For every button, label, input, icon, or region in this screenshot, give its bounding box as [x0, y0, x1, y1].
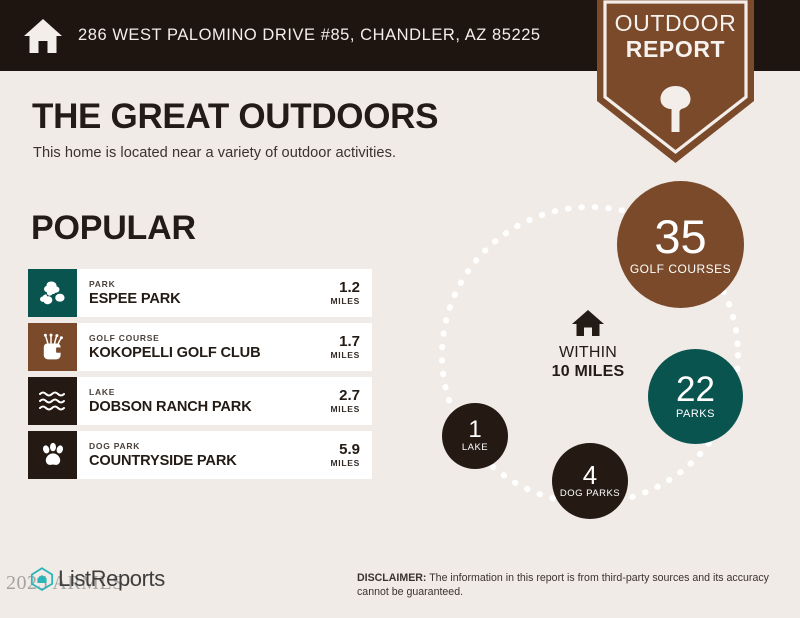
poi-icon-tile	[28, 377, 77, 425]
listreports-house-icon	[29, 566, 55, 592]
disclaimer: DISCLAIMER: The information in this repo…	[357, 571, 777, 599]
poi-text: GOLF COURSE KOKOPELLI GOLF CLUB	[77, 323, 314, 371]
list-item[interactable]: LAKE DOBSON RANCH PARK 2.7 MILES	[28, 377, 372, 425]
stat-value: 22	[676, 372, 715, 407]
poi-distance-unit: MILES	[331, 404, 360, 415]
stat-circle-lake[interactable]: 1 LAKE	[442, 403, 508, 469]
outdoor-report-badge: OUTDOOR REPORT	[573, 0, 778, 168]
popular-list: PARK ESPEE PARK 1.2 MILES	[28, 269, 372, 485]
stat-value: 35	[654, 213, 706, 260]
poi-name: ESPEE PARK	[89, 291, 314, 307]
header-address: 286 WEST PALOMINO DRIVE #85, CHANDLER, A…	[78, 26, 541, 45]
poi-distance-value: 1.2	[339, 280, 360, 296]
stat-label: PARKS	[676, 409, 715, 421]
poi-distance: 1.2 MILES	[314, 269, 372, 317]
water-waves-icon	[38, 390, 68, 412]
poi-distance-unit: MILES	[331, 296, 360, 307]
poi-icon-tile	[28, 431, 77, 479]
poi-text: PARK ESPEE PARK	[77, 269, 314, 317]
poi-distance-value: 2.7	[339, 388, 360, 404]
disclaimer-label: DISCLAIMER:	[357, 572, 426, 584]
poi-icon-tile	[28, 269, 77, 317]
list-item[interactable]: PARK ESPEE PARK 1.2 MILES	[28, 269, 372, 317]
page-title: THE GREAT OUTDOORS	[32, 97, 438, 137]
poi-name: COUNTRYSIDE PARK	[89, 453, 314, 469]
popular-heading: POPULAR	[31, 209, 196, 248]
badge-shield-shape	[573, 0, 778, 168]
poi-text: DOG PARK COUNTRYSIDE PARK	[77, 431, 314, 479]
poi-category: PARK	[89, 279, 314, 290]
poi-distance-value: 5.9	[339, 442, 360, 458]
page-subtitle: This home is located near a variety of o…	[33, 145, 396, 161]
poi-distance-unit: MILES	[331, 350, 360, 361]
stat-circle-parks[interactable]: 22 PARKS	[648, 349, 743, 444]
poi-distance-unit: MILES	[331, 458, 360, 469]
poi-distance-value: 1.7	[339, 334, 360, 350]
poi-category: GOLF COURSE	[89, 333, 314, 344]
diagram-center-marker: WITHIN 10 MILES	[533, 308, 643, 381]
amenities-circle-diagram: 35 GOLF COURSES 22 PARKS 1 LAKE 4 DOG PA…	[410, 175, 800, 535]
stat-value: 4	[583, 462, 597, 488]
stat-label: LAKE	[462, 443, 488, 453]
stat-circle-golf-courses[interactable]: 35 GOLF COURSES	[617, 181, 744, 308]
poi-name: KOKOPELLI GOLF CLUB	[89, 345, 314, 361]
poi-icon-tile	[28, 323, 77, 371]
home-icon	[22, 16, 64, 56]
list-item[interactable]: DOG PARK COUNTRYSIDE PARK 5.9 MILES	[28, 431, 372, 479]
poi-name: DOBSON RANCH PARK	[89, 399, 314, 415]
park-trees-icon	[39, 280, 67, 306]
listreports-logo[interactable]: ListReports	[29, 566, 165, 592]
poi-category: LAKE	[89, 387, 314, 398]
home-icon	[571, 308, 605, 338]
listreports-logo-text: ListReports	[58, 566, 165, 592]
poi-category: DOG PARK	[89, 441, 314, 452]
poi-distance: 1.7 MILES	[314, 323, 372, 371]
stat-value: 1	[468, 418, 481, 442]
poi-text: LAKE DOBSON RANCH PARK	[77, 377, 314, 425]
golf-bag-icon	[40, 333, 66, 361]
center-line-2: 10 MILES	[533, 362, 643, 381]
poi-distance: 5.9 MILES	[314, 431, 372, 479]
stat-label: GOLF COURSES	[630, 263, 731, 276]
paw-print-icon	[39, 442, 67, 468]
poi-distance: 2.7 MILES	[314, 377, 372, 425]
stat-circle-dog-parks[interactable]: 4 DOG PARKS	[552, 443, 628, 519]
list-item[interactable]: GOLF COURSE KOKOPELLI GOLF CLUB 1.7 MILE…	[28, 323, 372, 371]
center-line-1: WITHIN	[533, 343, 643, 362]
stat-label: DOG PARKS	[560, 489, 620, 499]
